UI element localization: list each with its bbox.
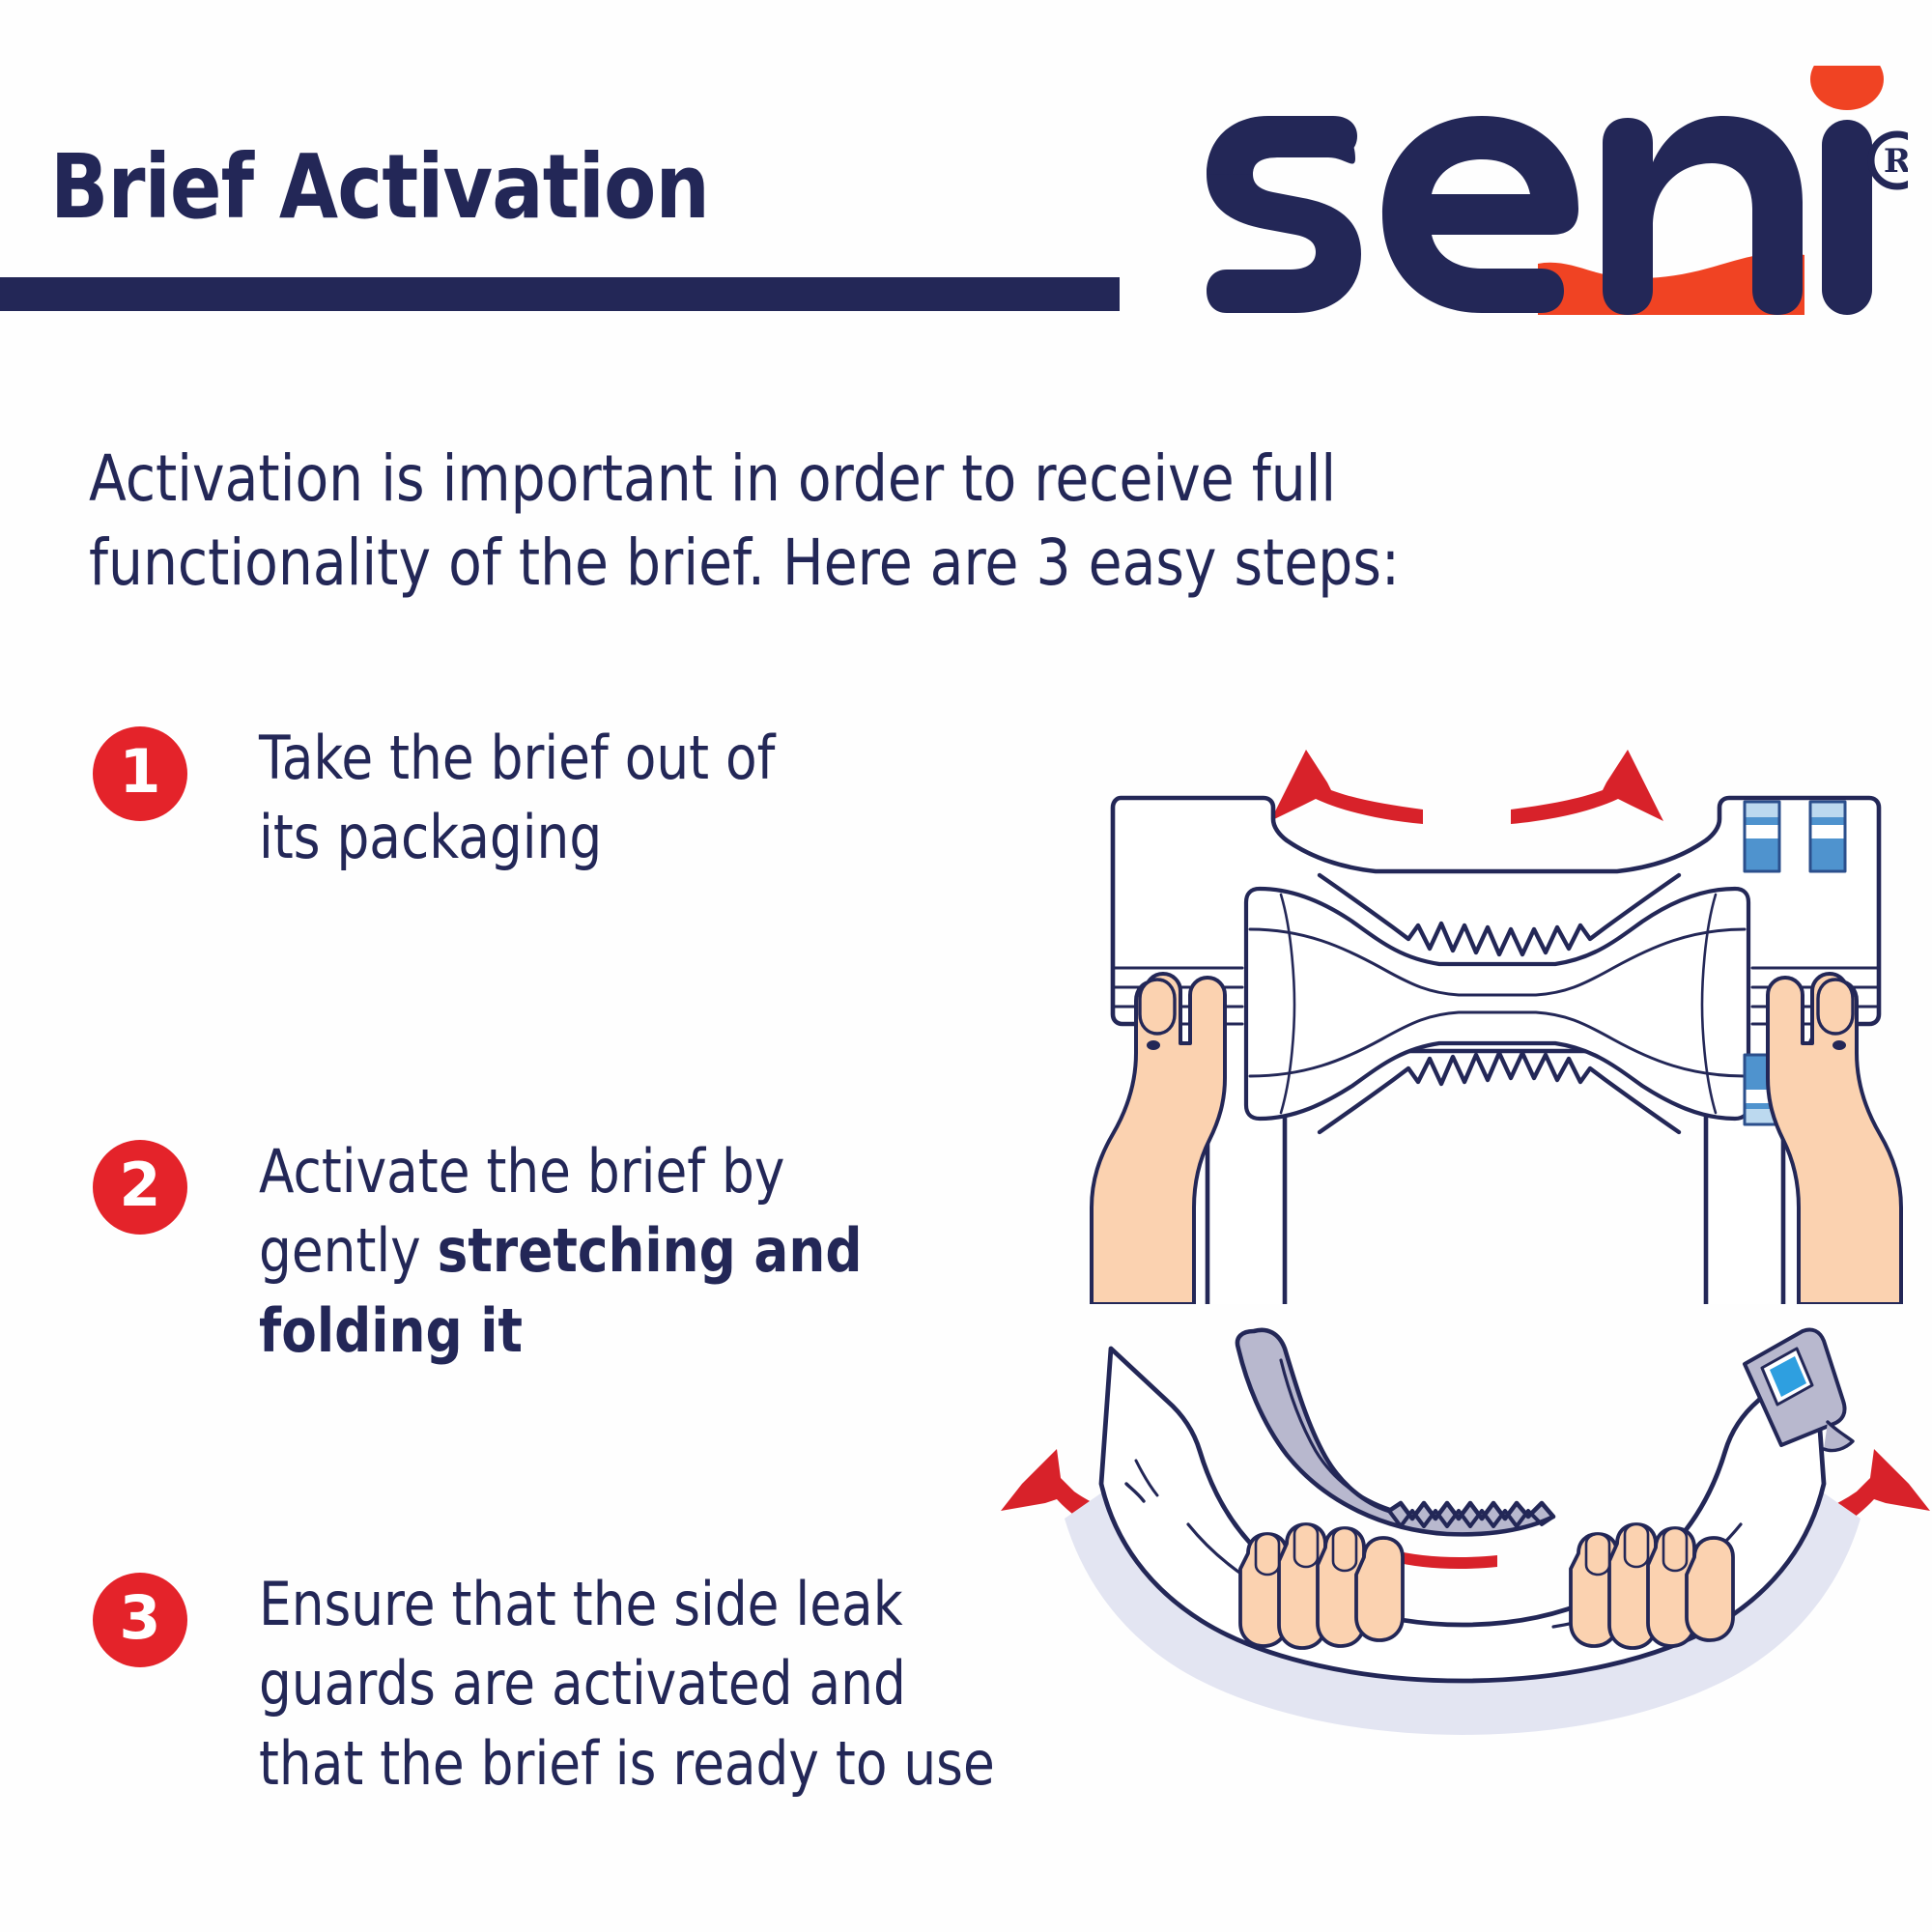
right-hand-fingers bbox=[1571, 1524, 1733, 1648]
header: Brief Activation bbox=[0, 0, 1932, 328]
step-number-badge-2: 2 bbox=[93, 1140, 187, 1235]
velcro-tab-top-1 bbox=[1745, 802, 1779, 871]
registered-trademark-icon: R bbox=[1871, 134, 1908, 186]
velcro-tab-top-2 bbox=[1810, 802, 1845, 871]
right-hand bbox=[1768, 974, 1901, 1304]
intro-line-1: Activation is important in order to rece… bbox=[89, 437, 1576, 521]
intro-paragraph: Activation is important in order to rece… bbox=[89, 437, 1576, 605]
logo-i-dot bbox=[1810, 66, 1884, 110]
stretch-arrow-right bbox=[1511, 750, 1663, 824]
step-text-1: Take the brief out ofits packaging bbox=[259, 719, 1007, 878]
title-underline-bar bbox=[0, 277, 1120, 311]
infographic-page: Brief Activation bbox=[0, 0, 1932, 1932]
brief-outline bbox=[1113, 798, 1879, 1304]
logo-letter-e bbox=[1382, 116, 1578, 313]
left-hand bbox=[1092, 974, 1225, 1304]
leak-guard-grey bbox=[1237, 1330, 1553, 1535]
step-number-badge-3: 3 bbox=[93, 1573, 187, 1667]
step-text-3: Ensure that the side leakguards are acti… bbox=[259, 1565, 1007, 1804]
logo-letter-i bbox=[1822, 120, 1872, 315]
step-number-badge-1: 1 bbox=[93, 726, 187, 821]
logo-letter-s bbox=[1207, 116, 1361, 313]
intro-line-2: functionality of the brief. Here are 3 e… bbox=[89, 521, 1576, 605]
step-text-2: Activate the brief bygently stretching a… bbox=[259, 1132, 1007, 1371]
left-hand-fingers bbox=[1240, 1524, 1403, 1648]
svg-text:R: R bbox=[1884, 142, 1908, 181]
brief-stretch-illustration bbox=[1053, 705, 1932, 1304]
stretch-arrow-left bbox=[1270, 750, 1423, 824]
seni-logo: R bbox=[1193, 66, 1908, 317]
brief-fold-illustration bbox=[985, 1294, 1932, 1739]
fold-center-mark bbox=[1391, 1549, 1497, 1569]
page-title: Brief Activation bbox=[50, 143, 709, 232]
